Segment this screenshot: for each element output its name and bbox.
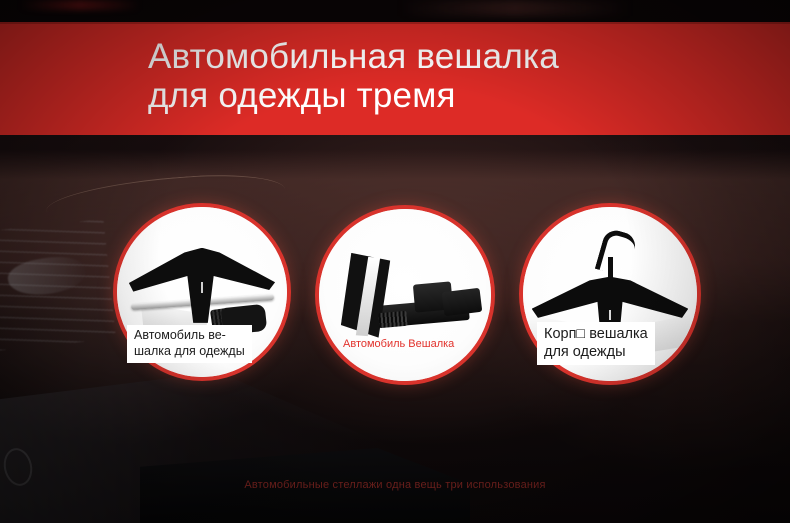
feature-2-photo	[319, 209, 491, 381]
hanger-center-notch-icon	[201, 282, 203, 293]
hanger-hook-icon	[594, 228, 637, 279]
top-dark-strip	[0, 0, 790, 22]
feature-3-caption: Корп□ вешалка для одежды	[537, 322, 655, 365]
headrest-mount-knurl-icon	[379, 311, 408, 329]
headline-band-top-edge	[0, 22, 790, 24]
top-strip-highlight-left	[20, 0, 140, 10]
top-strip-highlight-right	[400, 0, 630, 16]
hanger-center-notch-icon	[609, 310, 611, 320]
product-banner: Автомобильная вешалка для одежды тремя А…	[0, 0, 790, 523]
page-title: Автомобильная вешалка для одежды тремя	[148, 37, 708, 115]
bottom-tagline: Автомобильные стеллажи одна вещь три исп…	[0, 479, 790, 491]
feature-2-caption: Автомобиль Вешалка	[343, 337, 454, 351]
feature-1-caption: Автомобиль ве- шалка для одежды	[127, 325, 252, 363]
headrest-mount-block-secondary-icon	[442, 288, 482, 317]
feature-circle-2	[315, 205, 495, 385]
